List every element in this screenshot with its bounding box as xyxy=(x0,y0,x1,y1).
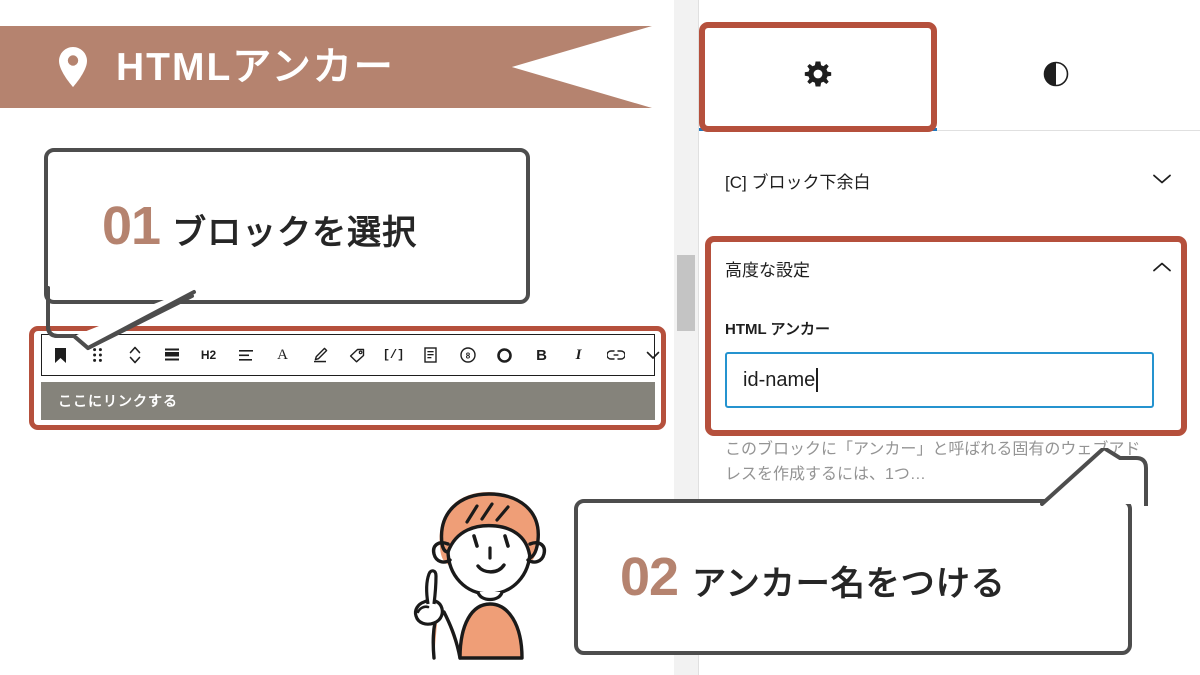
character-illustration xyxy=(404,486,574,661)
editor-canvas-pane: HTMLアンカー 01 ブロックを選択 xyxy=(0,0,672,675)
toolbar-group-extra xyxy=(671,335,672,375)
editor-scrollbar-thumb[interactable] xyxy=(677,255,695,331)
callout-02-tail xyxy=(1040,448,1150,506)
contrast-half-circle-icon xyxy=(1043,61,1069,92)
document-icon[interactable] xyxy=(412,335,449,375)
text-caret xyxy=(816,368,818,392)
toolbar-group-inline: A [/] xyxy=(264,335,671,375)
link-icon[interactable] xyxy=(597,335,634,375)
callout-01-tail xyxy=(44,288,244,350)
banner-title: HTMLアンカー xyxy=(116,48,395,87)
paw-print-icon[interactable] xyxy=(671,335,672,375)
html-anchor-label: HTML アンカー xyxy=(725,318,830,339)
highlighter-pen-icon[interactable] xyxy=(301,335,338,375)
panel-row-block-margin-label: [C] ブロック下余白 xyxy=(725,168,870,193)
callout-step-02: 02 アンカー名をつける xyxy=(574,499,1132,655)
panel-row-advanced[interactable]: 高度な設定 xyxy=(699,240,1200,296)
callout-02-text: アンカー名をつける xyxy=(692,567,1006,601)
chevron-up-icon[interactable] xyxy=(1152,258,1172,278)
html-anchor-input[interactable]: id-name xyxy=(725,352,1154,408)
html-anchor-input-value: id-name xyxy=(743,369,815,392)
tab-styles[interactable] xyxy=(937,22,1175,130)
more-options-chevron-down-icon[interactable] xyxy=(634,335,671,375)
callout-01-text: ブロックを選択 xyxy=(172,216,417,250)
panel-row-block-margin[interactable]: [C] ブロック下余白 xyxy=(699,152,1200,208)
selected-block[interactable]: ここにリンクする xyxy=(41,382,655,420)
map-pin-icon xyxy=(56,46,90,88)
selected-block-text: ここにリンクする xyxy=(58,391,178,411)
font-size-icon[interactable]: A xyxy=(264,335,301,375)
ruby-annotation-icon[interactable]: 8 xyxy=(449,335,486,375)
callout-step-01: 01 ブロックを選択 xyxy=(44,148,530,304)
tab-active-underline xyxy=(699,128,937,131)
svg-text:8: 8 xyxy=(465,351,470,360)
section-banner: HTMLアンカー xyxy=(0,26,652,108)
italic-button[interactable]: I xyxy=(560,335,597,375)
gear-icon xyxy=(804,60,832,93)
inline-code-icon[interactable]: [/] xyxy=(375,335,412,375)
sidebar-tabbar xyxy=(699,22,1200,131)
callout-02-number: 02 xyxy=(620,550,678,604)
circle-marker-icon[interactable] xyxy=(486,335,523,375)
tab-settings[interactable] xyxy=(699,22,937,130)
bold-button[interactable]: B xyxy=(523,335,560,375)
tag-icon[interactable] xyxy=(338,335,375,375)
callout-01-number: 01 xyxy=(102,199,160,253)
chevron-down-icon[interactable] xyxy=(1152,170,1172,190)
panel-row-advanced-label: 高度な設定 xyxy=(725,256,810,281)
